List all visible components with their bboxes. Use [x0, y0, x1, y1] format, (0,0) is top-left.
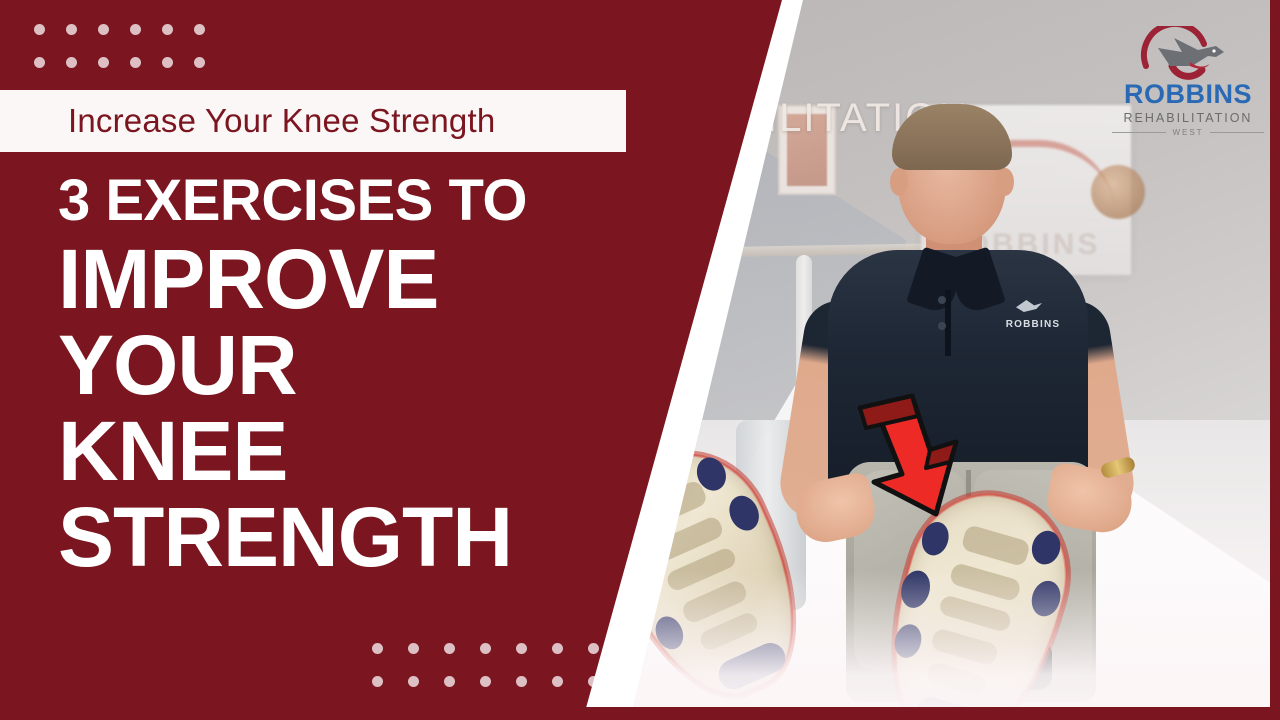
right-ear — [996, 168, 1014, 196]
logo-region-row: WEST — [1112, 128, 1264, 137]
bottom-border-strip — [0, 707, 1280, 720]
left-ear — [890, 168, 908, 196]
headline-line-2: IMPROVE — [58, 238, 658, 321]
dot — [98, 24, 109, 35]
dot — [194, 24, 205, 35]
dot — [516, 676, 527, 687]
dot — [194, 57, 205, 68]
logo-rule-right — [1210, 132, 1264, 133]
shirt-button — [938, 296, 946, 304]
right-border-strip — [1270, 0, 1280, 720]
dot — [516, 643, 527, 654]
shirt-button — [938, 322, 946, 330]
headline-line-3: YOUR — [58, 324, 658, 407]
dot — [98, 57, 109, 68]
logo-rule-left — [1112, 132, 1166, 133]
dot — [34, 24, 45, 35]
dot — [480, 676, 491, 687]
dot — [162, 57, 173, 68]
dot — [66, 57, 77, 68]
dot — [130, 57, 141, 68]
dot — [408, 676, 419, 687]
dot — [588, 643, 599, 654]
dot — [444, 676, 455, 687]
thumbnail-canvas: ROBBINS ILITATION ROBBINS — [0, 0, 1280, 720]
logo-region: WEST — [1172, 128, 1203, 137]
eyebrow-text: Increase Your Knee Strength — [68, 102, 495, 140]
dot-pattern-top-left — [34, 24, 226, 90]
down-right-arrow-icon — [852, 386, 982, 522]
dot — [480, 643, 491, 654]
dot — [552, 676, 563, 687]
headline-line-5: STRENGTH — [58, 496, 658, 579]
headline-block: 3 EXERCISES TO IMPROVE YOUR KNEE STRENGT… — [58, 172, 658, 583]
headline-line-4: KNEE — [58, 410, 658, 493]
dot — [372, 676, 383, 687]
hair — [892, 104, 1012, 170]
dot — [162, 24, 173, 35]
eyebrow-badge: Increase Your Knee Strength — [0, 90, 626, 152]
dot — [130, 24, 141, 35]
dot — [372, 643, 383, 654]
logo-name: ROBBINS — [1112, 81, 1264, 108]
dot — [552, 643, 563, 654]
robin-bird-icon — [1112, 26, 1264, 80]
dot — [34, 57, 45, 68]
dot — [444, 643, 455, 654]
shirt-brand-text: ROBBINS — [994, 308, 1072, 330]
logo-subtitle: REHABILITATION — [1112, 111, 1264, 125]
dot — [66, 24, 77, 35]
headline-main: IMPROVE YOUR KNEE STRENGTH — [58, 238, 658, 580]
dot — [408, 643, 419, 654]
brand-logo: ROBBINS REHABILITATION WEST — [1112, 26, 1264, 144]
headline-line-1: 3 EXERCISES TO — [58, 172, 658, 230]
